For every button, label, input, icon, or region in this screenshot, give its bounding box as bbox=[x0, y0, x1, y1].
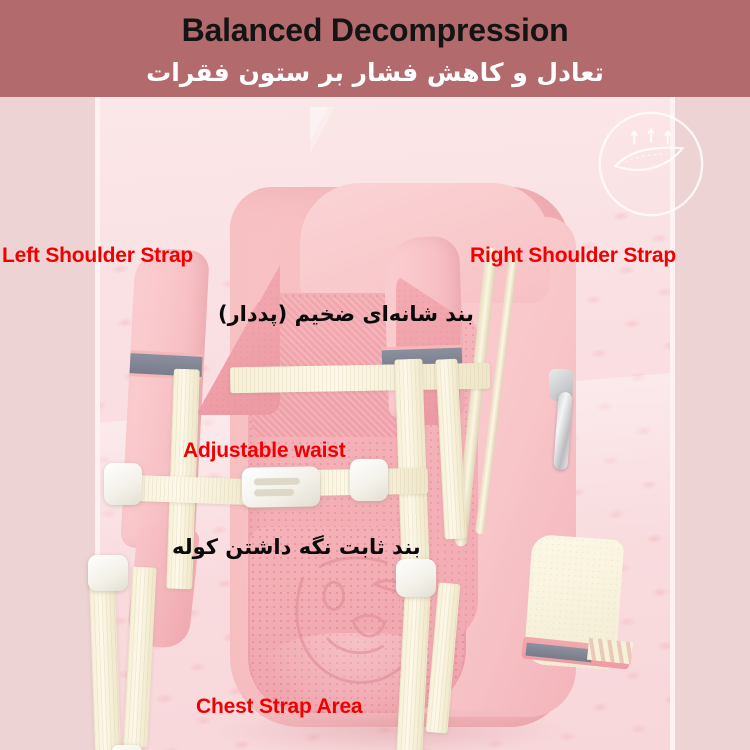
pocket-stripe-accent bbox=[587, 638, 633, 664]
page-subtitle-farsi: تعادل و کاهش فشار بر ستون فقرات bbox=[0, 56, 750, 90]
callout-shoulder-strap-farsi: بند شانه‌ای ضخیم (پددار) bbox=[218, 304, 474, 325]
lower-left-slider bbox=[88, 555, 128, 591]
product-photo: Left Shoulder Strap Right Shoulder Strap… bbox=[0, 97, 750, 750]
callout-adjustable-waist: Adjustable waist bbox=[183, 440, 346, 461]
product-infographic: Balanced Decompression تعادل و کاهش فشار… bbox=[0, 0, 750, 750]
callout-chest-strap-area: Chest Strap Area bbox=[196, 696, 362, 717]
hanging-webbing-left bbox=[89, 567, 122, 750]
page-title: Balanced Decompression bbox=[0, 10, 750, 50]
callout-right-shoulder-strap: Right Shoulder Strap bbox=[470, 245, 676, 266]
callout-left-shoulder-strap: Left Shoulder Strap bbox=[2, 245, 193, 266]
leaf-circle-logo-icon bbox=[592, 105, 710, 223]
lower-right-slider bbox=[396, 559, 436, 597]
header-band: Balanced Decompression تعادل و کاهش فشار… bbox=[0, 0, 750, 97]
hanging-strap-end-clip bbox=[112, 745, 142, 750]
waist-right-slider bbox=[350, 459, 388, 501]
callout-waist-strap-farsi: بند ثابت نگه داشتن کوله bbox=[172, 537, 421, 558]
waist-left-slider bbox=[104, 463, 142, 505]
waist-center-buckle bbox=[242, 466, 321, 507]
hanging-webbing-left-2 bbox=[123, 566, 156, 747]
